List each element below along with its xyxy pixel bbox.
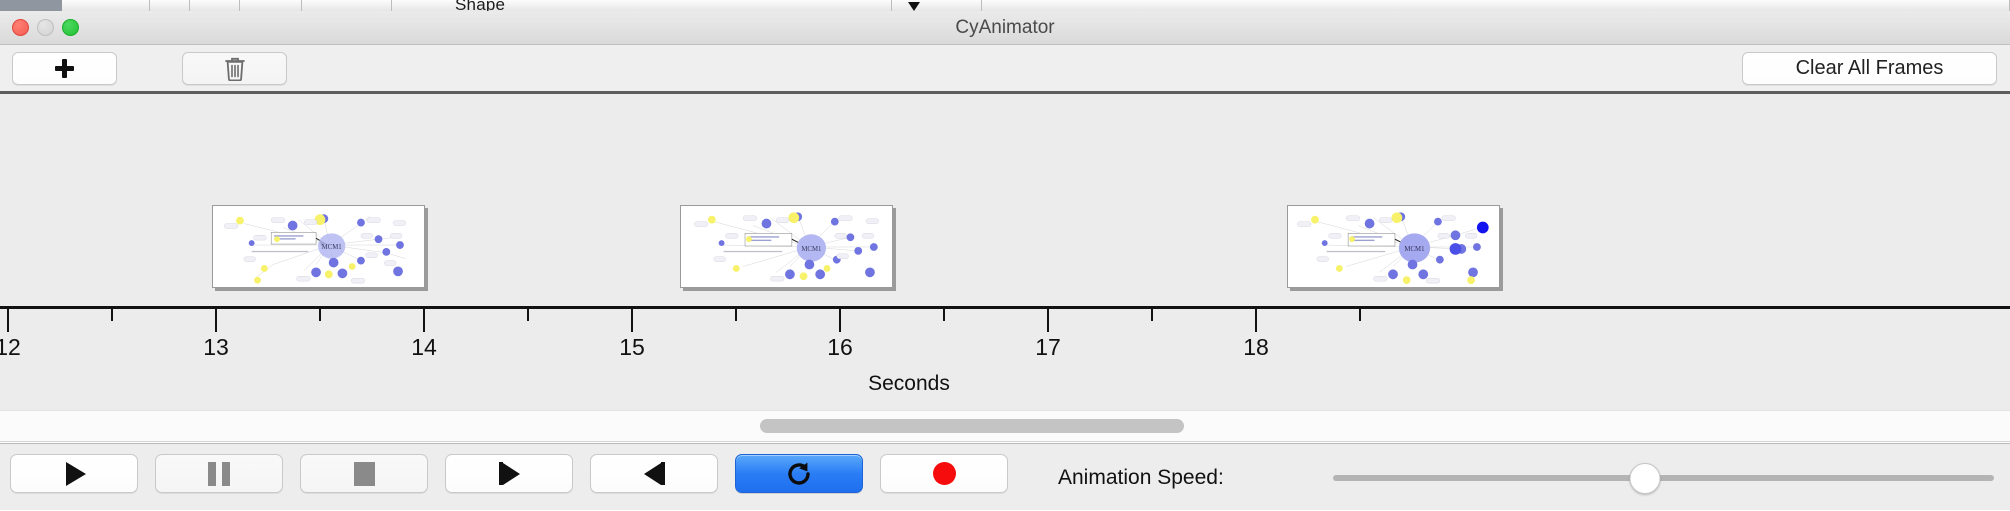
- network-preview: MCM1: [213, 206, 424, 287]
- background-tab: [240, 0, 302, 11]
- timeline-tick-label: 12: [0, 334, 21, 361]
- timeline-tick: [839, 309, 841, 332]
- timeline-tick: [943, 309, 945, 321]
- timeline-tick-label: 16: [827, 334, 853, 361]
- highlight-node: [1477, 222, 1489, 234]
- title-bar: CyAnimator: [0, 11, 2010, 45]
- delete-frame-button[interactable]: [182, 52, 287, 85]
- skip-end-button[interactable]: [590, 454, 718, 493]
- timeline-tick-label: 15: [619, 334, 645, 361]
- timeline-frame-thumbnail[interactable]: MCM1: [1287, 205, 1500, 288]
- loop-button[interactable]: [735, 454, 863, 493]
- timeline-tick: [1359, 309, 1361, 321]
- scrollbar-thumb[interactable]: [760, 419, 1184, 433]
- timeline-frame-thumbnail[interactable]: MCM1: [212, 205, 425, 288]
- timeline-panel[interactable]: MCM1: [0, 94, 2010, 410]
- svg-text:MCM1: MCM1: [1404, 246, 1424, 253]
- timeline-tick: [215, 309, 217, 332]
- animation-speed-slider[interactable]: [1333, 475, 1994, 481]
- background-tab: [302, 0, 392, 11]
- play-button[interactable]: [10, 454, 138, 493]
- timeline-tick: [1047, 309, 1049, 332]
- trash-icon: [224, 56, 246, 81]
- timeline-axis-line: [0, 306, 2010, 309]
- slider-track[interactable]: [1333, 475, 1994, 481]
- pause-icon: [208, 462, 230, 486]
- background-tab: [892, 0, 982, 11]
- timeline-tick: [1255, 309, 1257, 332]
- network-preview: MCM1: [1288, 206, 1499, 287]
- window-title: CyAnimator: [0, 11, 2010, 45]
- toolbar: Clear All Frames: [0, 45, 2010, 91]
- background-tab: [982, 0, 2010, 11]
- timeline-tick: [423, 309, 425, 332]
- timeline-axis-title: Seconds: [0, 372, 1818, 396]
- timeline-tick-label: 13: [203, 334, 229, 361]
- cyanimator-window: Shape CyAnimator Clear All Frames: [0, 0, 2010, 510]
- svg-text:MCM1: MCM1: [322, 244, 342, 251]
- timeline-tick: [527, 309, 529, 321]
- background-tab: [62, 0, 150, 11]
- record-icon: [933, 462, 956, 485]
- pause-button[interactable]: [155, 454, 283, 493]
- timeline-tick: [1151, 309, 1153, 321]
- animation-speed-label: Animation Speed:: [1058, 444, 1224, 511]
- timeline-frame-thumbnail[interactable]: MCM1: [680, 205, 893, 288]
- slider-thumb[interactable]: [1630, 463, 1661, 494]
- svg-text:MCM1: MCM1: [801, 246, 821, 253]
- skip-end-icon: [644, 462, 665, 485]
- loop-icon: [785, 460, 813, 488]
- timeline-tick: [7, 309, 9, 332]
- add-frame-button[interactable]: [12, 52, 117, 85]
- timeline-scrollbar[interactable]: [0, 410, 2010, 442]
- play-icon: [66, 462, 86, 486]
- timeline-tick: [111, 309, 113, 321]
- timeline-tick-label: 17: [1035, 334, 1061, 361]
- record-button[interactable]: [880, 454, 1008, 493]
- background-tab: [190, 0, 240, 11]
- timeline-tick: [631, 309, 633, 332]
- skip-start-icon: [499, 462, 520, 485]
- skip-start-button[interactable]: [445, 454, 573, 493]
- plus-icon: [55, 59, 74, 78]
- background-tab: [150, 0, 190, 11]
- timeline-tick: [735, 309, 737, 321]
- background-window-title: Shape: [455, 0, 505, 11]
- timeline-tick: [319, 309, 321, 321]
- stop-button[interactable]: [300, 454, 428, 493]
- network-preview: MCM1: [681, 206, 892, 287]
- timeline-tick-label: 14: [411, 334, 437, 361]
- timeline-tick-label: 18: [1243, 334, 1269, 361]
- background-window-selection: [0, 0, 62, 11]
- background-marker: [908, 2, 920, 11]
- background-window-strip: Shape: [0, 0, 2010, 11]
- transport-bar: Animation Speed:: [0, 443, 2010, 510]
- clear-all-frames-label: Clear All Frames: [1796, 57, 1944, 80]
- clear-all-frames-button[interactable]: Clear All Frames: [1742, 52, 1997, 85]
- stop-icon: [354, 462, 375, 486]
